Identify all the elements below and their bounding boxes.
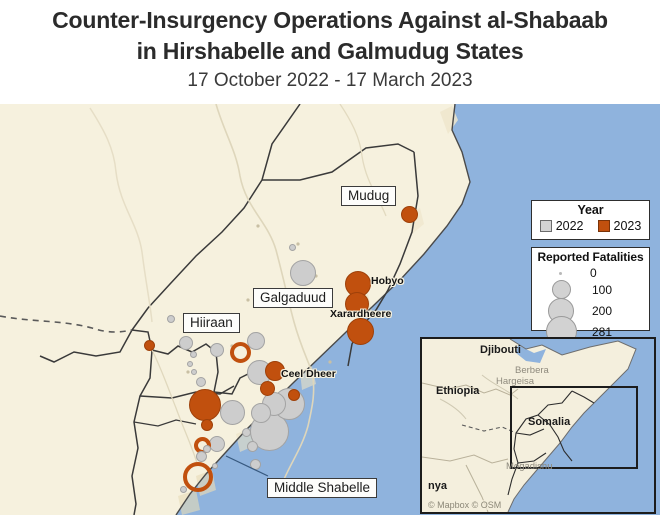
data-point-2022[interactable] (209, 436, 225, 452)
legend-fatalities-value: 0 (590, 266, 597, 280)
data-point-2022[interactable] (180, 486, 187, 493)
legend-year-item-2022[interactable]: 2022 (540, 219, 584, 233)
data-point-2022[interactable] (289, 244, 296, 251)
page-title-line-1: Counter-Insurgency Operations Against al… (0, 7, 660, 34)
legend-fatalities-rows: 0100200281 (532, 264, 649, 326)
legend-fatalities-row: 0 (532, 266, 597, 280)
legend-year-title: Year (532, 201, 649, 217)
legend-year[interactable]: Year 2022 2023 (531, 200, 650, 240)
data-point-2022[interactable] (210, 343, 224, 357)
figure-bottom-margin (0, 515, 660, 528)
inset-label-kenya: nya (428, 480, 447, 492)
town-label-ceel-dheer: Ceel Dheer (281, 368, 336, 380)
data-point-2023[interactable] (230, 342, 251, 363)
page-title-line-2: in Hirshabelle and Galmudug States (0, 38, 660, 65)
legend-year-label-2023: 2023 (614, 219, 642, 233)
inset-label-berbera: Berbera (515, 365, 549, 376)
legend-fatalities-circle (559, 272, 562, 275)
region-label-hiiraan: Hiiraan (183, 313, 240, 333)
swatch-2022-icon (540, 220, 552, 232)
legend-fatalities-value: 100 (592, 283, 612, 297)
data-point-2023[interactable] (260, 381, 275, 396)
data-point-2022[interactable] (220, 400, 245, 425)
region-label-galgaduud: Galgaduud (253, 288, 333, 308)
data-point-2022[interactable] (250, 459, 261, 470)
data-point-2022[interactable] (247, 441, 258, 452)
inset-label-somalia: Somalia (528, 416, 570, 428)
data-point-2022[interactable] (212, 463, 218, 469)
data-point-2022[interactable] (242, 428, 251, 437)
legend-fatalities-circle (552, 280, 571, 299)
region-label-mudug: Mudug (341, 186, 396, 206)
data-point-2022[interactable] (251, 403, 271, 423)
data-point-2022[interactable] (187, 361, 193, 367)
inset-label-mogadishu: Mogadishu (506, 461, 552, 472)
region-label-middle-shabelle: Middle Shabelle (267, 478, 377, 498)
legend-year-label-2022: 2022 (556, 219, 584, 233)
town-label-xarardheere: Xarardheere (330, 308, 391, 320)
data-point-2022[interactable] (190, 351, 197, 358)
data-point-2023[interactable] (347, 318, 374, 345)
data-point-2022[interactable] (196, 377, 206, 387)
inset-label-ethiopia: Ethiopia (436, 385, 479, 397)
data-point-2022[interactable] (167, 315, 175, 323)
data-point-2022[interactable] (203, 445, 211, 453)
data-point-2022[interactable] (191, 369, 197, 375)
data-point-2023[interactable] (183, 462, 213, 492)
legend-fatalities-row: 100 (532, 280, 612, 299)
legend-fatalities[interactable]: Reported Fatalities 0100200281 (531, 247, 650, 331)
data-point-2023[interactable] (144, 340, 155, 351)
map-figure: Counter-Insurgency Operations Against al… (0, 0, 660, 528)
data-point-2022[interactable] (179, 336, 193, 350)
inset-label-djibouti: Djibouti (480, 344, 521, 356)
town-label-hobyo: Hobyo (371, 275, 404, 287)
page-subtitle: 17 October 2022 - 17 March 2023 (0, 70, 660, 92)
legend-fatalities-title: Reported Fatalities (532, 248, 649, 264)
title-block: Counter-Insurgency Operations Against al… (0, 0, 660, 104)
swatch-2023-icon (598, 220, 610, 232)
data-point-2023[interactable] (201, 419, 213, 431)
inset-label-hargeisa: Hargeisa (496, 376, 534, 387)
data-point-2023[interactable] (189, 389, 221, 421)
data-point-2022[interactable] (290, 260, 316, 286)
data-point-2023[interactable] (288, 389, 300, 401)
inset-map[interactable]: DjiboutiBerberaHargeisaEthiopiaSomaliaMo… (420, 337, 656, 514)
legend-year-item-2023[interactable]: 2023 (598, 219, 642, 233)
data-point-2023[interactable] (401, 206, 418, 223)
inset-attribution: © Mapbox © OSM (426, 500, 503, 510)
